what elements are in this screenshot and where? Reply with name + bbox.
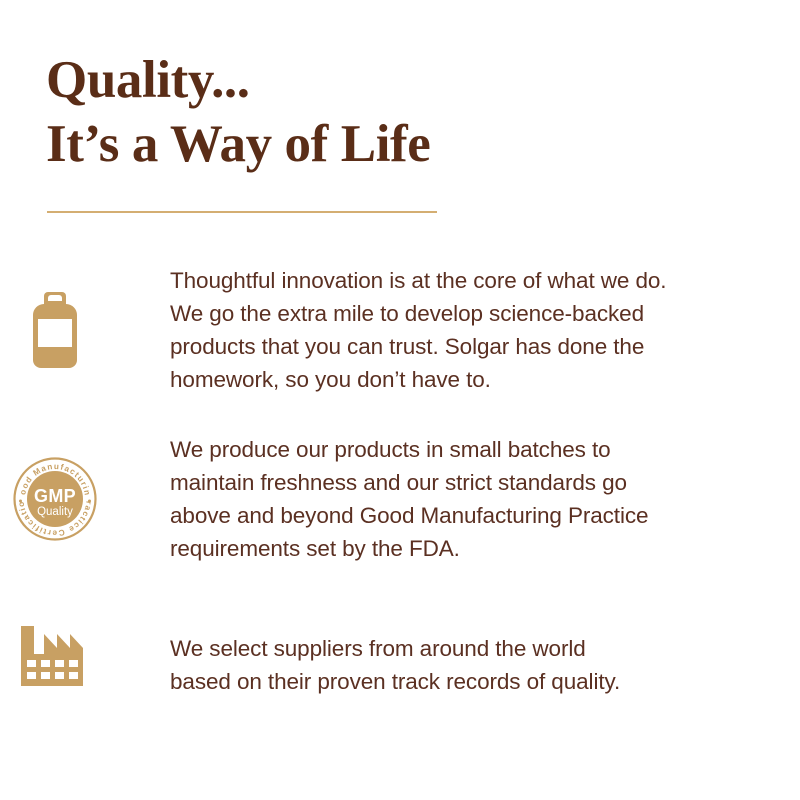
list-item: Good Manufacturing Practice Certificatio…	[0, 433, 800, 608]
feature-text: Thoughtful innovation is at the core of …	[110, 258, 666, 396]
list-item: Thoughtful innovation is at the core of …	[0, 258, 800, 433]
feature-icon-slot	[0, 608, 110, 686]
bottle-label-shape	[38, 319, 72, 347]
page-title: Quality... It’s a Way of Life	[46, 48, 746, 176]
feature-icon-slot	[0, 258, 110, 368]
quality-values-panel: Quality... It’s a Way of Life Thoughtful…	[0, 0, 800, 800]
feature-text: We produce our products in small batches…	[110, 433, 648, 565]
gmp-center-title: GMP	[34, 486, 76, 506]
feature-icon-slot: Good Manufacturing Practice Certificatio…	[0, 433, 110, 541]
list-item: We select suppliers from around the worl…	[0, 608, 800, 728]
page-title-line-1: Quality...	[46, 48, 746, 112]
gmp-quality-seal-icon: Good Manufacturing Practice Certificatio…	[13, 457, 97, 541]
bottle-cap-slot-shape	[48, 295, 62, 301]
page-title-line-2: It’s a Way of Life	[46, 112, 746, 176]
supplement-bottle-icon	[33, 292, 77, 368]
heading-divider	[47, 211, 437, 213]
feature-text: We select suppliers from around the worl…	[110, 608, 620, 698]
gmp-center-subtitle: Quality	[37, 506, 73, 518]
factory-icon	[19, 626, 91, 686]
feature-list: Thoughtful innovation is at the core of …	[0, 258, 800, 728]
